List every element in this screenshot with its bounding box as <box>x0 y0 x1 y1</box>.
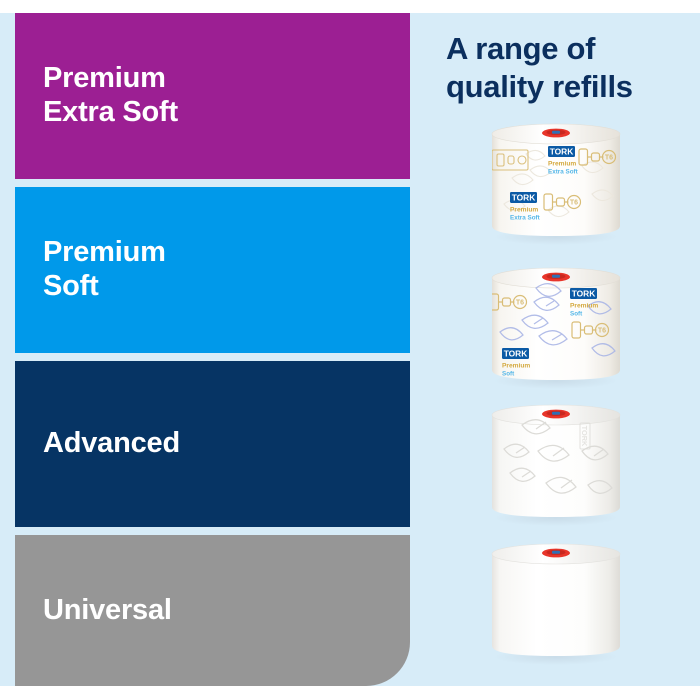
svg-text:Extra Soft: Extra Soft <box>510 215 541 222</box>
quality-band-premium-soft[interactable]: Premium Soft <box>15 187 410 353</box>
quality-band-premium-extra-soft[interactable]: Premium Extra Soft <box>15 13 410 179</box>
quality-band-label: Premium Extra Soft <box>15 62 178 130</box>
svg-text:Premium: Premium <box>548 161 576 168</box>
page-title: A range of quality refills <box>446 30 696 106</box>
svg-text:Soft: Soft <box>570 311 583 318</box>
quality-band-label: Advanced <box>15 427 180 461</box>
quality-band-advanced[interactable]: Advanced <box>15 361 410 527</box>
svg-text:TORK: TORK <box>572 289 596 299</box>
svg-text:TORK: TORK <box>580 426 589 447</box>
svg-text:Premium: Premium <box>570 303 598 310</box>
svg-text:T6: T6 <box>605 155 613 162</box>
svg-text:TORK: TORK <box>550 147 574 157</box>
product-image-universal <box>484 538 628 666</box>
svg-text:Extra Soft: Extra Soft <box>548 169 579 176</box>
quality-band-label: Premium Soft <box>15 236 166 304</box>
svg-text:Premium: Premium <box>510 207 538 214</box>
svg-text:T6: T6 <box>598 328 606 335</box>
svg-text:Soft: Soft <box>502 371 515 378</box>
quality-band-universal[interactable]: Universal <box>15 535 410 686</box>
product-image-premium-extra-soft: T6 TORK Premium Extra Soft TORK Premium … <box>484 118 628 246</box>
svg-text:T6: T6 <box>570 200 578 207</box>
svg-text:Premium: Premium <box>502 363 530 370</box>
product-image-premium-soft: T6 TORK Premium Soft T6 TORK Pr <box>484 262 628 390</box>
quality-band-list: Premium Extra Soft Premium Soft Advanced… <box>15 13 410 686</box>
product-image-advanced: TORK <box>484 399 628 527</box>
svg-text:TORK: TORK <box>512 193 536 203</box>
svg-text:T6: T6 <box>516 300 524 307</box>
quality-band-label: Universal <box>15 594 172 628</box>
page-root: Premium Extra Soft Premium Soft Advanced… <box>0 0 700 700</box>
svg-text:TORK: TORK <box>504 349 528 359</box>
